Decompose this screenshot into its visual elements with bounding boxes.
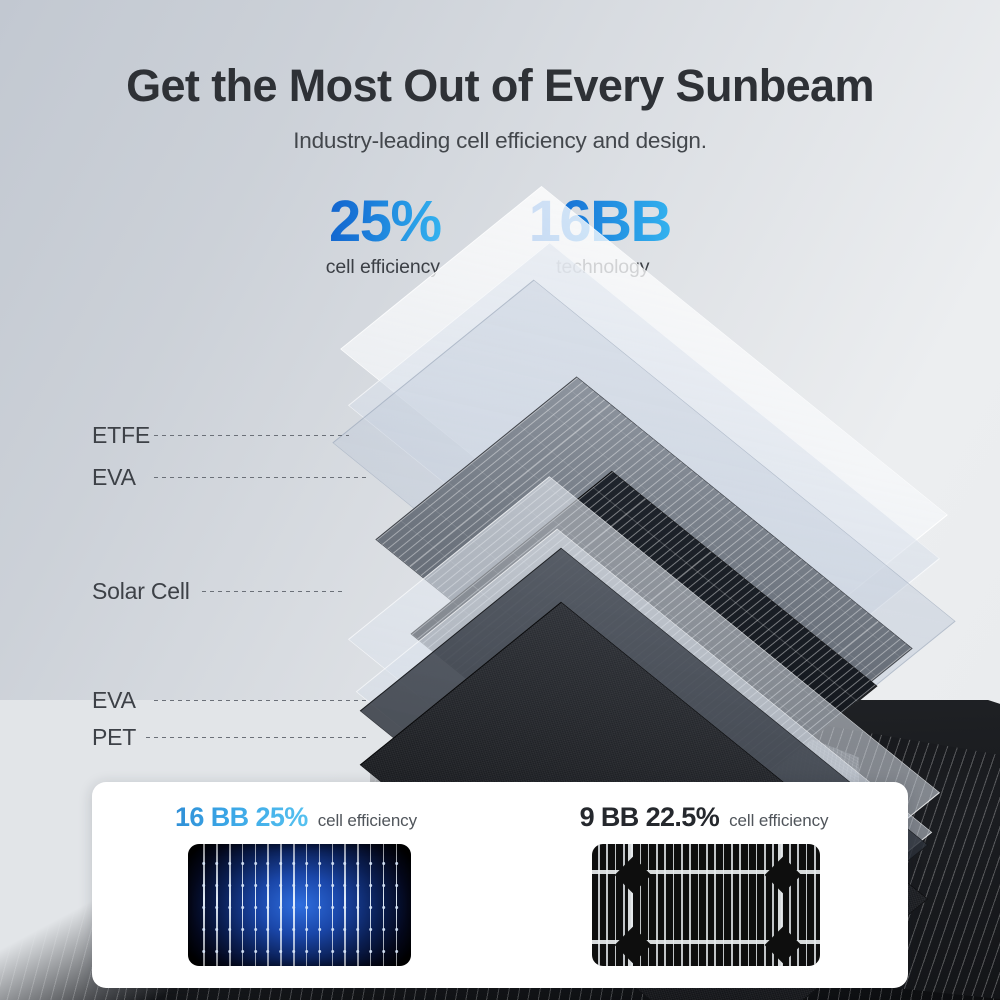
busbar-pad — [331, 950, 334, 953]
callout-eva-bottom: EVA — [92, 687, 369, 714]
busbar-pad — [267, 862, 270, 865]
leader-line-icon — [202, 591, 345, 592]
finger-line — [615, 844, 617, 966]
busbar-pad — [356, 906, 359, 909]
busbar-pad — [382, 884, 385, 887]
busbar-pad — [254, 862, 257, 865]
busbar-pad — [331, 928, 334, 931]
callout-pet: PET — [92, 724, 368, 751]
busbar-pad — [395, 928, 398, 931]
busbar-pad — [344, 950, 347, 953]
busbar-pad — [254, 884, 257, 887]
busbar-pad — [215, 862, 218, 865]
finger-line — [806, 844, 808, 966]
busbar-pad — [228, 884, 231, 887]
finger-line — [714, 844, 716, 966]
comparison-title-9bb: 9 BB 22.5% — [580, 802, 720, 833]
busbar-pad — [318, 862, 321, 865]
busbar-pad — [305, 906, 308, 909]
busbar-pad — [331, 884, 334, 887]
solar-cell-image-9bb — [592, 844, 820, 966]
busbar-pad — [267, 950, 270, 953]
busbar-pad — [344, 862, 347, 865]
finger-line — [698, 844, 700, 966]
comparison-column-16bb: 16 BB 25% cell efficiency — [92, 782, 500, 988]
callout-label-pet: PET — [92, 724, 136, 751]
busbar-pad — [279, 884, 282, 887]
exploded-layer-diagram — [300, 280, 1000, 800]
busbar-pad — [331, 906, 334, 909]
busbar-pad — [356, 862, 359, 865]
busbar-pad — [228, 950, 231, 953]
busbar-pad — [318, 906, 321, 909]
leader-line-icon — [154, 477, 369, 478]
finger-line — [673, 844, 675, 966]
busbar-pad — [344, 884, 347, 887]
busbar-pad — [369, 950, 372, 953]
busbar-pad — [395, 862, 398, 865]
busbar-pad — [331, 862, 334, 865]
busbar-pad — [228, 928, 231, 931]
busbar-pad — [305, 862, 308, 865]
busbar-pad — [254, 928, 257, 931]
busbar-pad — [356, 928, 359, 931]
busbar-pad — [254, 906, 257, 909]
comparison-column-9bb: 9 BB 22.5% cell efficiency — [500, 782, 908, 988]
busbar-pad — [279, 950, 282, 953]
busbar-pad — [395, 884, 398, 887]
cell-comparison-card: 16 BB 25% cell efficiency 9 BB 22.5% cel… — [92, 782, 908, 988]
comparison-heading-9bb: 9 BB 22.5% cell efficiency — [500, 802, 908, 833]
finger-line — [681, 844, 683, 966]
leader-line-icon — [154, 435, 349, 436]
busbar-pad — [241, 950, 244, 953]
busbar-pad — [215, 906, 218, 909]
busbar-pad — [318, 928, 321, 931]
busbar-notch — [615, 927, 652, 964]
busbar-pad — [382, 906, 385, 909]
solar-cell-image-16bb — [188, 844, 411, 966]
comparison-title-16bb: 16 BB 25% — [175, 802, 308, 833]
finger-line — [606, 844, 608, 966]
busbar-pad — [382, 950, 385, 953]
infographic-canvas: Get the Most Out of Every Sunbeam Indust… — [0, 0, 1000, 1000]
busbar-pad — [369, 928, 372, 931]
busbar-pad — [228, 906, 231, 909]
finger-line — [739, 844, 741, 966]
finger-line — [756, 844, 758, 966]
busbar-pad — [292, 862, 295, 865]
finger-line — [689, 844, 691, 966]
busbar-pad — [254, 950, 257, 953]
comparison-heading-16bb: 16 BB 25% cell efficiency — [92, 802, 500, 833]
finger-line — [764, 844, 766, 966]
busbar-pad — [241, 906, 244, 909]
busbar-pad — [241, 862, 244, 865]
leader-line-icon — [146, 737, 368, 738]
busbar-pad — [203, 906, 206, 909]
busbar-pad — [292, 884, 295, 887]
busbar-pad — [228, 862, 231, 865]
busbar-pad — [356, 950, 359, 953]
busbar-pad — [305, 884, 308, 887]
busbar-pad — [344, 906, 347, 909]
stat-value-efficiency: 25% — [329, 192, 441, 251]
busbar-pad — [292, 950, 295, 953]
finger-line — [731, 844, 733, 966]
stat-label-efficiency: cell efficiency — [325, 256, 441, 279]
busbar-pad — [279, 862, 282, 865]
busbar-pad — [305, 928, 308, 931]
comparison-subtitle-16bb: cell efficiency — [318, 811, 417, 831]
busbar-pad — [267, 884, 270, 887]
finger-line — [723, 844, 725, 966]
busbar-pad — [369, 862, 372, 865]
busbar-pad — [279, 906, 282, 909]
finger-line — [706, 844, 708, 966]
callout-label-etfe: ETFE — [92, 422, 150, 449]
busbar-pad — [292, 906, 295, 909]
busbar-notch — [615, 857, 652, 894]
busbar-pad — [203, 884, 206, 887]
busbar-pad — [215, 950, 218, 953]
busbar-pad — [382, 928, 385, 931]
busbar-pad — [241, 928, 244, 931]
busbar-pad — [395, 906, 398, 909]
busbar-pad — [318, 884, 321, 887]
callout-label-eva-top: EVA — [92, 464, 136, 491]
busbar-pad — [356, 884, 359, 887]
page-subtitle: Industry-leading cell efficiency and des… — [0, 128, 1000, 154]
busbar-pad — [267, 906, 270, 909]
busbar-pad — [382, 862, 385, 865]
busbar-pad — [344, 928, 347, 931]
callout-eva-top: EVA — [92, 464, 369, 491]
stat-cell-efficiency: 25% cell efficiency — [329, 192, 441, 279]
busbar-notch — [765, 857, 802, 894]
busbar-pad — [215, 928, 218, 931]
busbar-pad — [318, 950, 321, 953]
leader-line-icon — [154, 700, 369, 701]
busbar-pad — [292, 928, 295, 931]
busbar-pad — [241, 884, 244, 887]
busbar-pad — [215, 884, 218, 887]
finger-line — [664, 844, 666, 966]
busbar-pad — [203, 950, 206, 953]
busbar-pad — [279, 928, 282, 931]
finger-line — [748, 844, 750, 966]
busbar-pad — [369, 906, 372, 909]
comparison-subtitle-9bb: cell efficiency — [729, 811, 828, 831]
busbar-pad — [203, 928, 206, 931]
busbar-pad — [395, 950, 398, 953]
busbar-notch — [765, 927, 802, 964]
busbar-pad — [203, 862, 206, 865]
busbar-pad — [369, 884, 372, 887]
page-title: Get the Most Out of Every Sunbeam — [0, 60, 1000, 112]
finger-line — [598, 844, 600, 966]
callout-label-eva-bottom: EVA — [92, 687, 136, 714]
busbar-pad — [267, 928, 270, 931]
busbar-pad — [305, 950, 308, 953]
callout-label-solar-cell: Solar Cell — [92, 578, 190, 605]
callout-solar-cell: Solar Cell — [92, 578, 345, 605]
finger-line — [656, 844, 658, 966]
callout-etfe: ETFE — [92, 422, 349, 449]
finger-line — [814, 844, 816, 966]
